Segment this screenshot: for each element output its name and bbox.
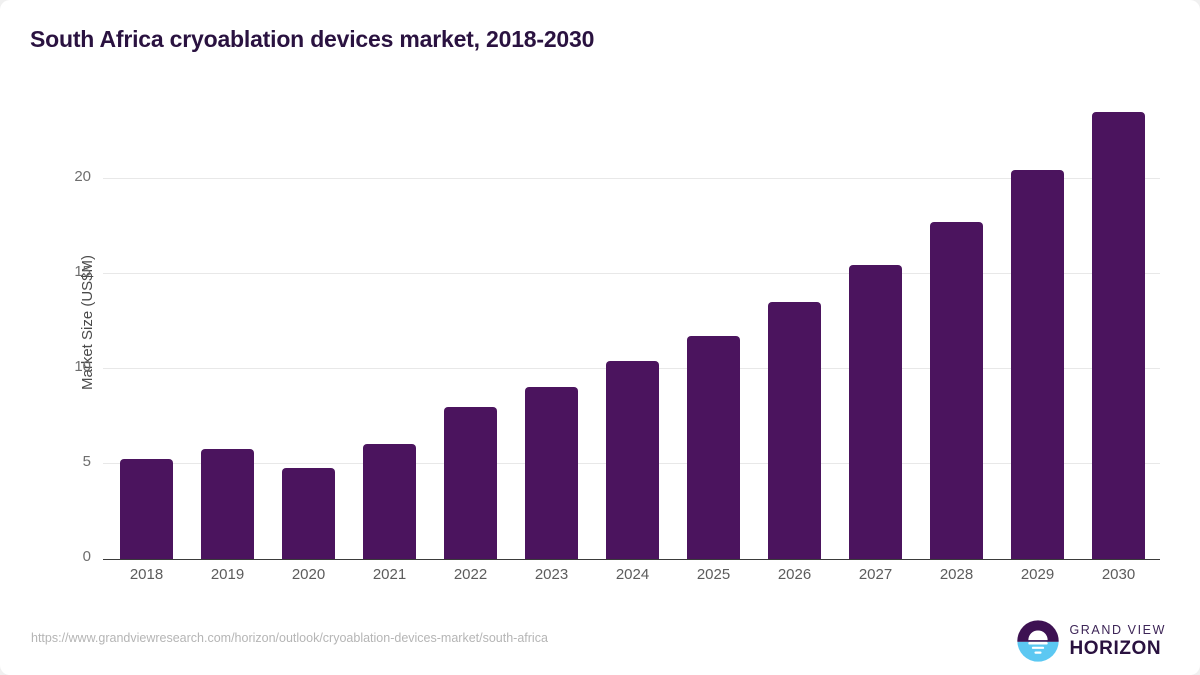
x-axis-line (103, 559, 1160, 561)
logo-line-horizon: HORIZON (1069, 639, 1166, 658)
chart-card: South Africa cryoablation devices market… (0, 0, 1200, 675)
source-url[interactable]: https://www.grandviewresearch.com/horizo… (31, 631, 548, 645)
x-axis-tick-label: 2018 (120, 566, 173, 583)
x-axis-tick-label: 2028 (930, 566, 983, 583)
y-axis-tick-label: 0 (41, 548, 91, 565)
x-axis-tick-label: 2021 (363, 566, 416, 583)
x-axis-tick-label: 2030 (1092, 566, 1145, 583)
x-axis-tick-label: 2024 (606, 566, 659, 583)
bar[interactable] (1092, 112, 1145, 559)
page-title: South Africa cryoablation devices market… (30, 26, 594, 53)
y-axis-tick-label: 15 (41, 263, 91, 280)
x-axis-tick-label: 2025 (687, 566, 740, 583)
x-axis-tick-label: 2026 (768, 566, 821, 583)
x-axis-tick-label: 2027 (849, 566, 902, 583)
bar[interactable] (930, 222, 983, 559)
horizon-circle-icon (1016, 619, 1060, 663)
grand-view-horizon-logo[interactable]: GRAND VIEW HORIZON (1016, 619, 1166, 663)
bar[interactable] (444, 407, 497, 559)
bar[interactable] (606, 361, 659, 559)
gridline (103, 273, 1160, 274)
x-axis-tick-label: 2029 (1011, 566, 1064, 583)
bar[interactable] (687, 336, 740, 559)
bar[interactable] (201, 449, 254, 559)
logo-text: GRAND VIEW HORIZON (1069, 624, 1166, 659)
bar[interactable] (768, 302, 821, 559)
gridline (103, 178, 1160, 179)
x-axis-tick-label: 2019 (201, 566, 254, 583)
plot-area: Market Size (US$M) 05101520 201820192020… (103, 90, 1160, 560)
x-axis-tick-label: 2023 (525, 566, 578, 583)
bar[interactable] (363, 444, 416, 559)
bar[interactable] (120, 459, 173, 559)
y-axis-tick-label: 10 (41, 358, 91, 375)
bar[interactable] (282, 468, 335, 559)
x-axis-tick-label: 2022 (444, 566, 497, 583)
y-axis-tick-label: 20 (41, 168, 91, 185)
bar[interactable] (525, 387, 578, 559)
bar[interactable] (849, 265, 902, 559)
x-axis-tick-label: 2020 (282, 566, 335, 583)
logo-line-grand-view: GRAND VIEW (1069, 624, 1166, 637)
y-axis-tick-label: 5 (41, 453, 91, 470)
bar[interactable] (1011, 170, 1064, 559)
